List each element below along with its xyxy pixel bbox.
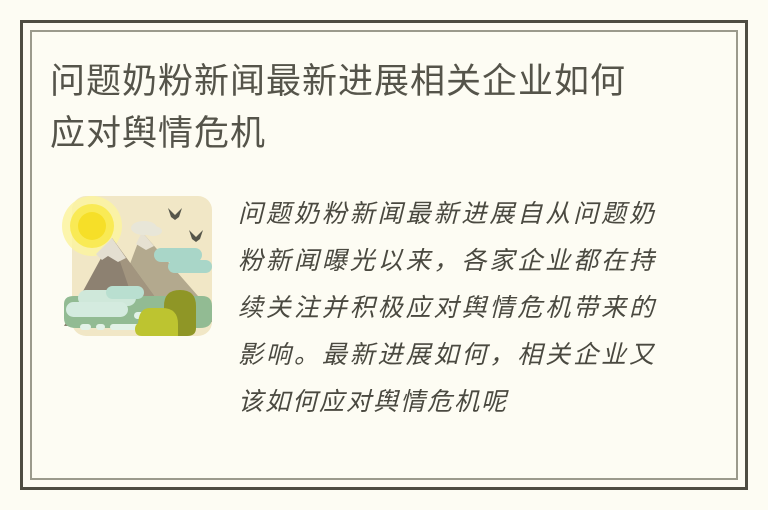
article-body-block: 问题奶粉新闻最新进展自从问题奶粉新闻曝光以来，各家企业都在持续关注并积极应对舆情…	[46, 182, 722, 425]
mountain-landscape-illustration	[50, 186, 220, 356]
card-content: 问题奶粉新闻最新进展相关企业如何应对舆情危机	[46, 46, 722, 464]
article-card: 问题奶粉新闻最新进展相关企业如何应对舆情危机	[0, 0, 768, 510]
page-title: 问题奶粉新闻最新进展相关企业如何应对舆情危机	[46, 46, 654, 160]
article-body-text: 问题奶粉新闻最新进展自从问题奶粉新闻曝光以来，各家企业都在持续关注并积极应对舆情…	[220, 182, 656, 425]
